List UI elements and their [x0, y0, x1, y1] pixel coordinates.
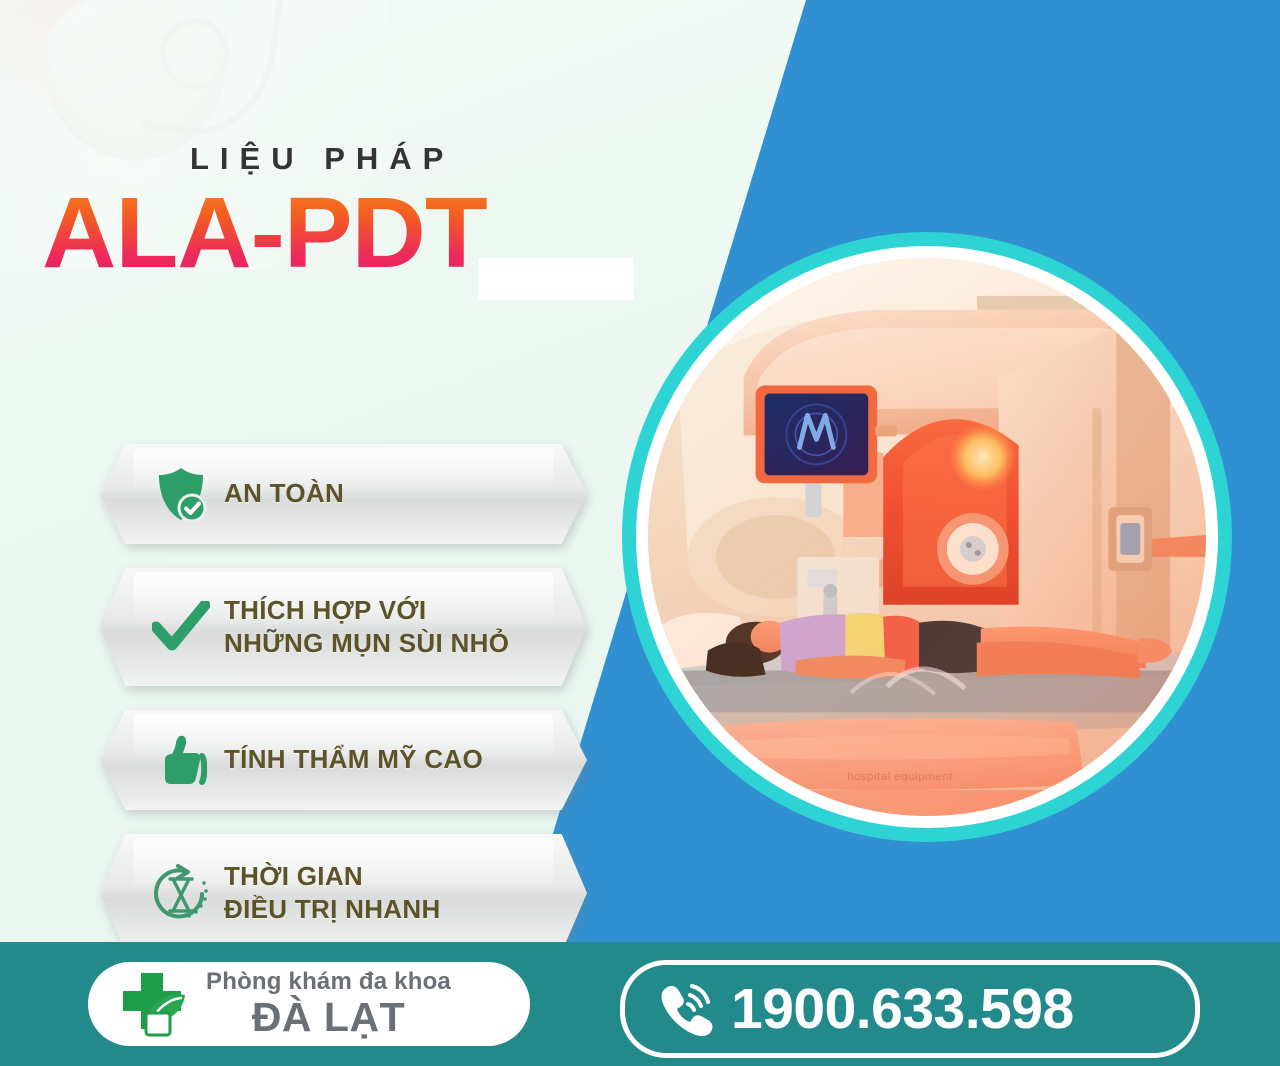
feature-item-tham-my[interactable]: TÍNH THẨM MỸ CAO: [100, 710, 587, 810]
hotline-button[interactable]: 1900.633.598: [620, 960, 1200, 1058]
poster-canvas: LIỆU PHÁP ALA-PDT: [0, 0, 1280, 1066]
clinic-logo-pill[interactable]: Phòng khám đa khoa ĐÀ LẠT: [88, 962, 530, 1046]
clinic-name-line1: Phòng khám đa khoa: [206, 969, 451, 995]
feature-label: THỜI GIAN ĐIỀU TRỊ NHANH: [218, 860, 441, 927]
feature-label: AN TOÀN: [218, 477, 344, 510]
hotline-number: 1900.633.598: [721, 981, 1074, 1038]
shield-check-icon: [144, 466, 218, 522]
feature-label-line2: ĐIỀU TRỊ NHANH: [224, 893, 441, 926]
check-mark-icon: [144, 601, 218, 653]
feature-label: THÍCH HỢP VỚI NHỮNG MỤN SÙI NHỎ: [218, 594, 509, 661]
feature-label-line1: AN TOÀN: [224, 478, 344, 508]
feature-label-line1: THỜI GIAN: [224, 861, 363, 891]
title-white-mask: [478, 258, 633, 300]
feature-item-an-toan[interactable]: AN TOÀN: [100, 444, 587, 544]
phone-ringing-icon: [647, 978, 721, 1040]
footer-bar: Phòng khám đa khoa ĐÀ LẠT 1900.633.598: [0, 942, 1280, 1066]
treatment-photo-circle: hospital equipment: [622, 232, 1232, 842]
feature-label-line1: THÍCH HỢP VỚI: [224, 595, 426, 625]
green-cross-leaf-icon: [108, 968, 200, 1040]
feature-label: TÍNH THẨM MỸ CAO: [218, 743, 483, 776]
feature-item-thoi-gian[interactable]: THỜI GIAN ĐIỀU TRỊ NHANH: [100, 834, 587, 952]
feature-item-thich-hop[interactable]: THÍCH HỢP VỚI NHỮNG MỤN SÙI NHỎ: [100, 568, 587, 686]
pdt-treatment-room-photo: hospital equipment: [648, 258, 1206, 816]
feature-list: AN TOÀN THÍCH HỢP VỚI NHỮNG MỤN SÙI NHỎ: [100, 444, 600, 976]
clinic-name-line2: ĐÀ LẠT: [206, 996, 451, 1039]
thumbs-up-icon: [144, 733, 218, 787]
hourglass-clock-icon: [144, 863, 218, 923]
page-kicker: LIỆU PHÁP: [190, 143, 662, 174]
feature-label-line1: TÍNH THẨM MỸ CAO: [224, 744, 483, 774]
clinic-name: Phòng khám đa khoa ĐÀ LẠT: [200, 969, 451, 1038]
feature-label-line2: NHỮNG MỤN SÙI NHỎ: [224, 627, 509, 660]
